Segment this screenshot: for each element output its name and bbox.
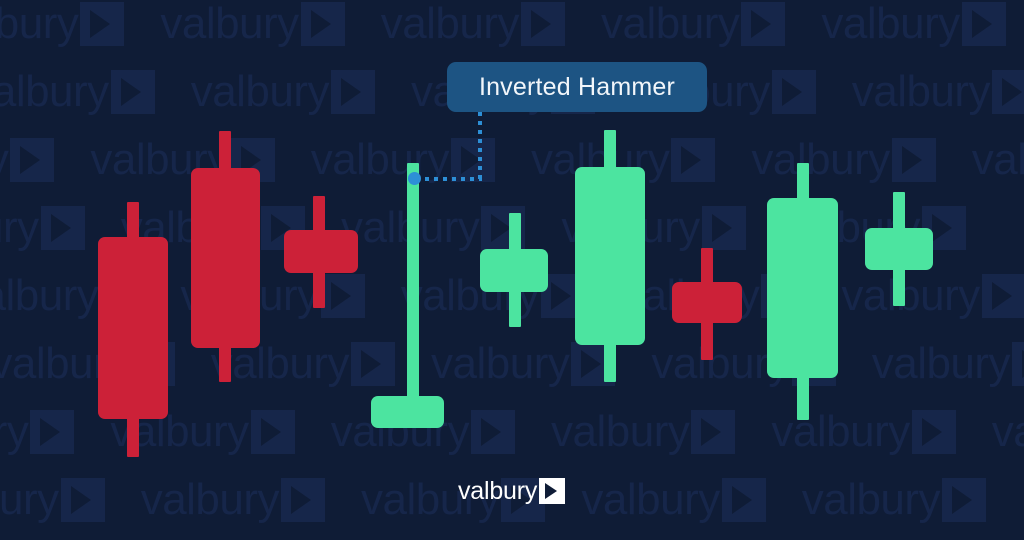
- brand-logo: valbury: [458, 478, 565, 504]
- pattern-illustration: valburyvalburyvalburyvalburyvalburyvalbu…: [0, 0, 1024, 540]
- pattern-label-text: Inverted Hammer: [479, 73, 675, 102]
- leader-line-vertical: [478, 112, 482, 179]
- leader-anchor-dot: [408, 172, 421, 185]
- pattern-label-badge[interactable]: Inverted Hammer: [447, 62, 707, 112]
- chevron-mark-icon: [539, 478, 565, 504]
- leader-line-horizontal: [416, 177, 482, 181]
- annotation-layer: Inverted Hammer: [0, 0, 1024, 540]
- brand-logo-text: valbury: [458, 479, 537, 504]
